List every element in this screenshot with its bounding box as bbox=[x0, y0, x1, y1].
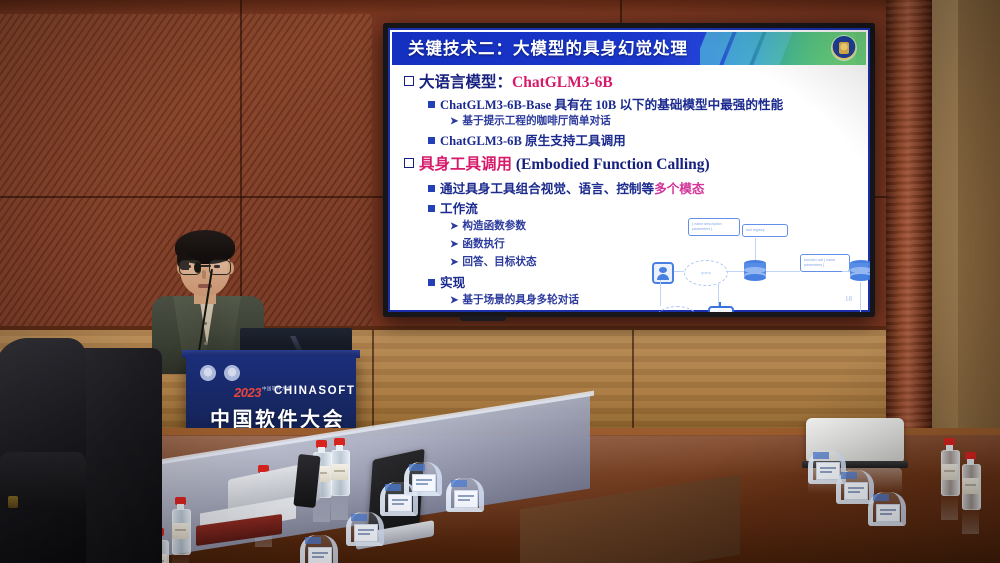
diagram-link bbox=[766, 271, 800, 272]
filled-square-icon bbox=[428, 279, 435, 286]
bullet-l2-native: ChatGLM3-6B 原生支持工具调用 bbox=[428, 130, 626, 149]
screenshot-root: 关键技术二：大模型的具身幻觉处理 大语言模型：ChatGLM3-6B ChatG… bbox=[0, 0, 1000, 563]
diagram-tool-registry-box: tool registry bbox=[742, 224, 788, 237]
bullet-l2-impl: 实现 bbox=[428, 272, 465, 291]
wall-display: 关键技术二：大模型的具身幻觉处理 大语言模型：ChatGLM3-6B ChatG… bbox=[383, 23, 875, 317]
arrow-marker-icon: ➤ bbox=[450, 257, 458, 268]
arrow-marker-icon: ➤ bbox=[450, 239, 458, 250]
wainscot-seam-a bbox=[372, 330, 374, 430]
name-card-holder bbox=[446, 478, 484, 512]
slide-body: 大语言模型：ChatGLM3-6B ChatGLM3-6B-Base 具有在 1… bbox=[398, 68, 860, 306]
diagram-link bbox=[718, 284, 719, 306]
diagram-schema-box: { name description parameters } bbox=[688, 218, 740, 236]
hollow-square-icon bbox=[404, 158, 414, 168]
diagram-link bbox=[674, 271, 684, 272]
query-cloud-icon: query bbox=[684, 260, 728, 286]
podium-emblem-left bbox=[200, 365, 216, 381]
name-card-holder bbox=[300, 535, 338, 563]
diagram-link bbox=[842, 271, 850, 272]
bullet-l1-efc: 具身工具调用 (Embodied Function Calling) bbox=[404, 152, 710, 174]
display-screen: 关键技术二：大模型的具身幻觉处理 大语言模型：ChatGLM3-6B ChatG… bbox=[388, 28, 870, 312]
podium-emblem-right bbox=[224, 365, 240, 381]
display-stand bbox=[460, 316, 506, 321]
university-emblem-icon bbox=[832, 36, 856, 60]
executive-chair-front bbox=[0, 338, 86, 563]
diagram-link bbox=[726, 271, 744, 272]
bullet-l3-prompt: ➤基于提示工程的咖啡厅简单对话 bbox=[450, 113, 611, 128]
function-calling-flow-diagram: { name description parameters } tool reg… bbox=[650, 218, 870, 312]
database-icon-b bbox=[850, 260, 870, 280]
diagram-link bbox=[860, 282, 861, 312]
water-bottle bbox=[172, 497, 189, 553]
robot-icon bbox=[708, 306, 734, 312]
filled-square-icon bbox=[428, 205, 435, 212]
database-icon-a bbox=[744, 260, 766, 280]
bullet-l1-llm: 大语言模型：ChatGLM3-6B bbox=[404, 70, 613, 92]
legion-icon bbox=[290, 336, 302, 350]
presentation-slide: 关键技术二：大模型的具身幻觉处理 大语言模型：ChatGLM3-6B ChatG… bbox=[388, 28, 870, 312]
apple-icon bbox=[848, 432, 861, 447]
arrow-marker-icon: ➤ bbox=[450, 221, 458, 232]
bullet-l3-goalstate: ➤基于顾客指令的目标状态生成 bbox=[450, 310, 600, 312]
name-card-holder bbox=[346, 512, 384, 546]
name-card-holder bbox=[404, 462, 442, 496]
person-icon bbox=[652, 262, 674, 284]
wall-seam-vertical-b bbox=[620, 0, 622, 24]
water-bottle bbox=[962, 452, 979, 508]
bullet-l3-answer: ➤回答、目标状态 bbox=[450, 254, 537, 269]
diagram-link bbox=[660, 280, 661, 306]
filled-square-icon bbox=[428, 137, 435, 144]
filled-square-icon bbox=[428, 185, 435, 192]
podium-year: 2023 bbox=[234, 385, 261, 400]
bullet-l2-workflow: 工作流 bbox=[428, 198, 478, 217]
slide-number: 18 bbox=[845, 295, 852, 303]
bullet-l2-multimodal: 通过具身工具组合视觉、语言、控制等多个模态 bbox=[428, 178, 704, 197]
slide-title: 关键技术二：大模型的具身幻觉处理 bbox=[408, 36, 688, 63]
hollow-square-icon bbox=[404, 76, 414, 86]
wall-upper-band bbox=[0, 0, 886, 14]
diagram-link bbox=[755, 238, 756, 260]
chair-gold-detail bbox=[8, 496, 18, 508]
water-bottle bbox=[941, 438, 958, 494]
arrow-marker-icon: ➤ bbox=[450, 116, 458, 127]
water-bottle bbox=[331, 438, 348, 494]
microphone-head bbox=[194, 262, 201, 273]
arrow-marker-icon: ➤ bbox=[450, 295, 458, 306]
wainscot-seam-b bbox=[632, 330, 634, 430]
answer-cloud-icon: answer bbox=[656, 306, 698, 312]
filled-square-icon bbox=[428, 101, 435, 108]
diagram-function-call-box: function call { name parameters } bbox=[800, 254, 850, 272]
nose bbox=[202, 270, 206, 279]
slide-title-band: 关键技术二：大模型的具身幻觉处理 bbox=[392, 32, 866, 65]
name-card-holder bbox=[868, 492, 906, 526]
jacket-button bbox=[204, 342, 207, 345]
podium-brand-en: CHINASOFT bbox=[274, 385, 355, 397]
bullet-l3-exec: ➤函数执行 bbox=[450, 236, 505, 251]
bullet-l2-base: ChatGLM3-6B-Base 具有在 10B 以下的基础模型中最强的性能 bbox=[428, 94, 783, 113]
bullet-l3-dialog: ➤基于场景的具身多轮对话 bbox=[450, 292, 579, 307]
bullet-l3-params: ➤构造函数参数 bbox=[450, 218, 526, 233]
